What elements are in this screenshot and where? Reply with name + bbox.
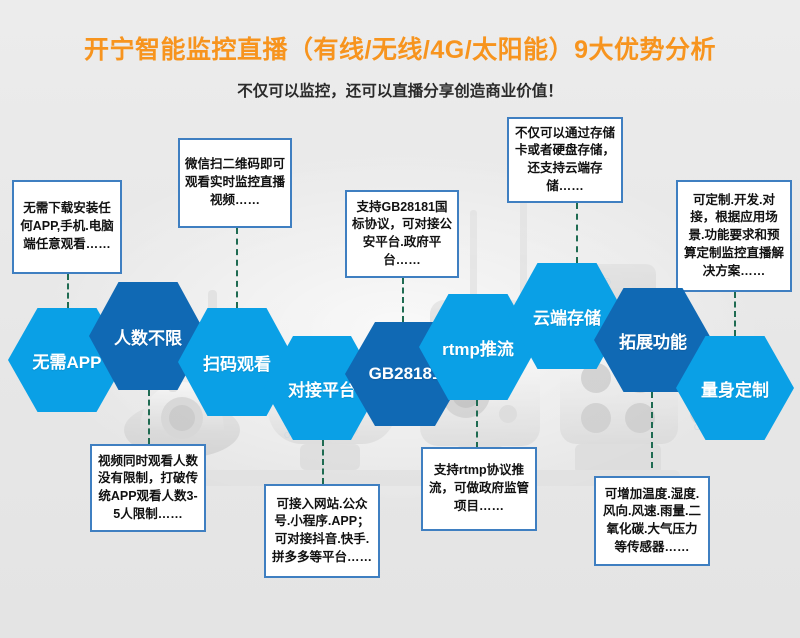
- callout-rtmp-push[interactable]: 支持rtmp协议推流，可做政府监管项目……: [421, 447, 537, 531]
- callout-unlimited-viewers[interactable]: 视频同时观看人数没有限制，打破传统APP观看人数3-5人限制……: [90, 444, 206, 532]
- callout-expansion-features-text: 可增加温度.湿度.风向.风速.雨量.二氧化碳.大气压力等传感器……: [596, 486, 708, 557]
- callout-cloud-storage-text: 不仅可以通过存储卡或者硬盘存储，还支持云端存储……: [509, 125, 621, 196]
- connector-rtmp-push: [476, 400, 478, 448]
- page-subtitle: 不仅可以监控，还可以直播分享创造商业价值！: [0, 79, 800, 101]
- connector-no-app: [67, 274, 69, 308]
- connector-platform-docking: [322, 440, 324, 484]
- callout-scan-to-watch-text: 微信扫二维码即可观看实时监控直播视频……: [180, 156, 290, 209]
- callout-gb28181-text: 支持GB28181国标协议，可对接公安平台.政府平台……: [347, 199, 457, 270]
- hex-tailor-made-label: 量身定制: [701, 376, 769, 401]
- callout-tailor-made[interactable]: 可定制.开发.对接，根据应用场景.功能要求和预算定制监控直播解决方案……: [676, 180, 792, 292]
- hex-rtmp-push-label: rtmp推流: [442, 335, 514, 360]
- hex-platform-docking-label: 对接平台: [288, 376, 356, 401]
- page-title: 开宁智能监控直播（有线/无线/4G/太阳能）9大优势分析: [0, 30, 800, 66]
- callout-no-app-text: 无需下载安装任何APP,手机.电脑端任意观看……: [14, 200, 120, 253]
- callout-platform-docking[interactable]: 可接入网站.公众号.小程序.APP；可对接抖音.快手.拼多多等平台……: [264, 484, 380, 578]
- connector-gb28181: [402, 278, 404, 322]
- callout-rtmp-push-text: 支持rtmp协议推流，可做政府监管项目……: [423, 462, 535, 515]
- connector-scan-to-watch: [236, 228, 238, 308]
- callout-tailor-made-text: 可定制.开发.对接，根据应用场景.功能要求和预算定制监控直播解决方案……: [678, 192, 790, 281]
- callout-platform-docking-text: 可接入网站.公众号.小程序.APP；可对接抖音.快手.拼多多等平台……: [266, 496, 378, 567]
- callout-cloud-storage[interactable]: 不仅可以通过存储卡或者硬盘存储，还支持云端存储……: [507, 117, 623, 203]
- infographic-canvas: Opening开宁® Opening开宁® Opening开宁 Opening开…: [0, 0, 800, 638]
- callout-gb28181[interactable]: 支持GB28181国标协议，可对接公安平台.政府平台……: [345, 190, 459, 278]
- hex-no-app-label: 无需APP: [33, 348, 102, 373]
- connector-expansion-features: [651, 392, 653, 468]
- connector-tailor-made: [734, 292, 736, 336]
- connector-unlimited-viewers: [148, 390, 150, 444]
- hex-unlimited-viewers-label: 人数不限: [114, 324, 182, 349]
- connector-cloud-storage: [576, 203, 578, 263]
- callout-unlimited-viewers-text: 视频同时观看人数没有限制，打破传统APP观看人数3-5人限制……: [92, 453, 204, 524]
- callout-expansion-features[interactable]: 可增加温度.湿度.风向.风速.雨量.二氧化碳.大气压力等传感器……: [594, 476, 710, 566]
- callout-scan-to-watch[interactable]: 微信扫二维码即可观看实时监控直播视频……: [178, 138, 292, 228]
- hex-expansion-features-label: 拓展功能: [619, 328, 687, 353]
- hex-scan-to-watch-label: 扫码观看: [203, 350, 271, 375]
- hex-cloud-storage-label: 云端存储: [533, 304, 601, 329]
- callout-no-app[interactable]: 无需下载安装任何APP,手机.电脑端任意观看……: [12, 180, 122, 274]
